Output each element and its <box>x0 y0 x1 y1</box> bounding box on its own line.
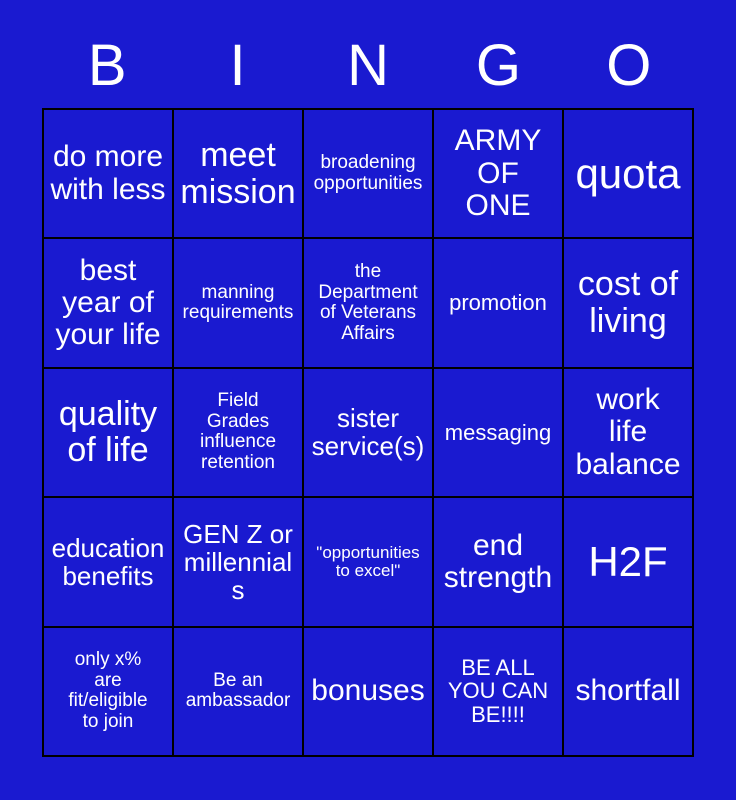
bingo-cell-label: ARMY OF ONE <box>439 125 557 222</box>
bingo-cell-r3c2[interactable]: Field Grades influence retention <box>174 369 304 498</box>
bingo-cell-label: end strength <box>439 530 557 595</box>
bingo-cell-r1c4[interactable]: ARMY OF ONE <box>434 110 564 239</box>
bingo-cell-label: work life balance <box>569 384 687 481</box>
bingo-header-letter-g: G <box>433 24 563 108</box>
bingo-cell-label: Field Grades influence retention <box>179 391 297 473</box>
bingo-cell-label: the Department of Veterans Affairs <box>309 262 427 344</box>
bingo-cell-r4c5[interactable]: H2F <box>564 498 694 627</box>
bingo-header-letter-g-label: G <box>476 37 521 95</box>
bingo-cell-r4c4[interactable]: end strength <box>434 498 564 627</box>
bingo-header-letter-i: I <box>172 24 302 108</box>
bingo-header-letter-b-label: B <box>88 37 127 95</box>
bingo-card: B I N G O do more with lessmeet missionb… <box>0 0 736 800</box>
bingo-cell-label: "opportunities to excel" <box>309 544 427 581</box>
bingo-cell-r2c1[interactable]: best year of your life <box>44 239 174 368</box>
bingo-header-letter-n: N <box>303 24 433 108</box>
bingo-cell-r5c5[interactable]: shortfall <box>564 628 694 757</box>
bingo-cell-label: Be an ambassador <box>179 671 297 712</box>
bingo-cell-label: do more with less <box>49 141 167 206</box>
bingo-header-letter-o: O <box>564 24 694 108</box>
bingo-header: B I N G O <box>42 24 694 108</box>
bingo-cell-label: promotion <box>439 291 557 315</box>
bingo-header-letter-n-label: N <box>347 37 389 95</box>
bingo-cell-label: shortfall <box>569 675 687 707</box>
bingo-header-letter-i-label: I <box>230 37 246 95</box>
bingo-cell-r1c2[interactable]: meet mission <box>174 110 304 239</box>
bingo-cell-label: broadening opportunities <box>309 153 427 194</box>
bingo-cell-label: best year of your life <box>49 255 167 352</box>
bingo-cell-label: education benefits <box>49 534 167 590</box>
bingo-cell-r2c4[interactable]: promotion <box>434 239 564 368</box>
bingo-cell-label: messaging <box>439 421 557 445</box>
bingo-cell-r3c1[interactable]: quality of life <box>44 369 174 498</box>
bingo-cell-label: quota <box>569 151 687 196</box>
bingo-cell-label: sister service(s) <box>309 404 427 460</box>
bingo-cell-r2c5[interactable]: cost of living <box>564 239 694 368</box>
bingo-cell-label: bonuses <box>309 675 427 707</box>
bingo-cell-label: only x% are fit/eligible to join <box>49 650 167 732</box>
bingo-header-letter-o-label: O <box>606 37 651 95</box>
bingo-cell-r5c2[interactable]: Be an ambassador <box>174 628 304 757</box>
bingo-grid: do more with lessmeet missionbroadening … <box>42 108 694 757</box>
bingo-cell-r3c4[interactable]: messaging <box>434 369 564 498</box>
bingo-cell-label: BE ALL YOU CAN BE!!!! <box>439 656 557 727</box>
bingo-cell-r4c1[interactable]: education benefits <box>44 498 174 627</box>
bingo-cell-label: manning requirements <box>179 283 297 324</box>
bingo-cell-label: GEN Z or millennials <box>179 520 297 604</box>
bingo-cell-label: quality of life <box>49 396 167 469</box>
bingo-cell-r5c4[interactable]: BE ALL YOU CAN BE!!!! <box>434 628 564 757</box>
bingo-cell-r3c3[interactable]: sister service(s) <box>304 369 434 498</box>
bingo-cell-r1c5[interactable]: quota <box>564 110 694 239</box>
bingo-cell-r2c2[interactable]: manning requirements <box>174 239 304 368</box>
bingo-cell-r5c1[interactable]: only x% are fit/eligible to join <box>44 628 174 757</box>
bingo-cell-r5c3[interactable]: bonuses <box>304 628 434 757</box>
bingo-header-letter-b: B <box>42 24 172 108</box>
bingo-cell-r4c3[interactable]: "opportunities to excel" <box>304 498 434 627</box>
bingo-cell-label: H2F <box>569 539 687 584</box>
bingo-cell-label: cost of living <box>569 266 687 339</box>
bingo-cell-r1c3[interactable]: broadening opportunities <box>304 110 434 239</box>
bingo-cell-r4c2[interactable]: GEN Z or millennials <box>174 498 304 627</box>
bingo-cell-r2c3[interactable]: the Department of Veterans Affairs <box>304 239 434 368</box>
bingo-cell-label: meet mission <box>179 137 297 210</box>
bingo-cell-r3c5[interactable]: work life balance <box>564 369 694 498</box>
bingo-cell-r1c1[interactable]: do more with less <box>44 110 174 239</box>
